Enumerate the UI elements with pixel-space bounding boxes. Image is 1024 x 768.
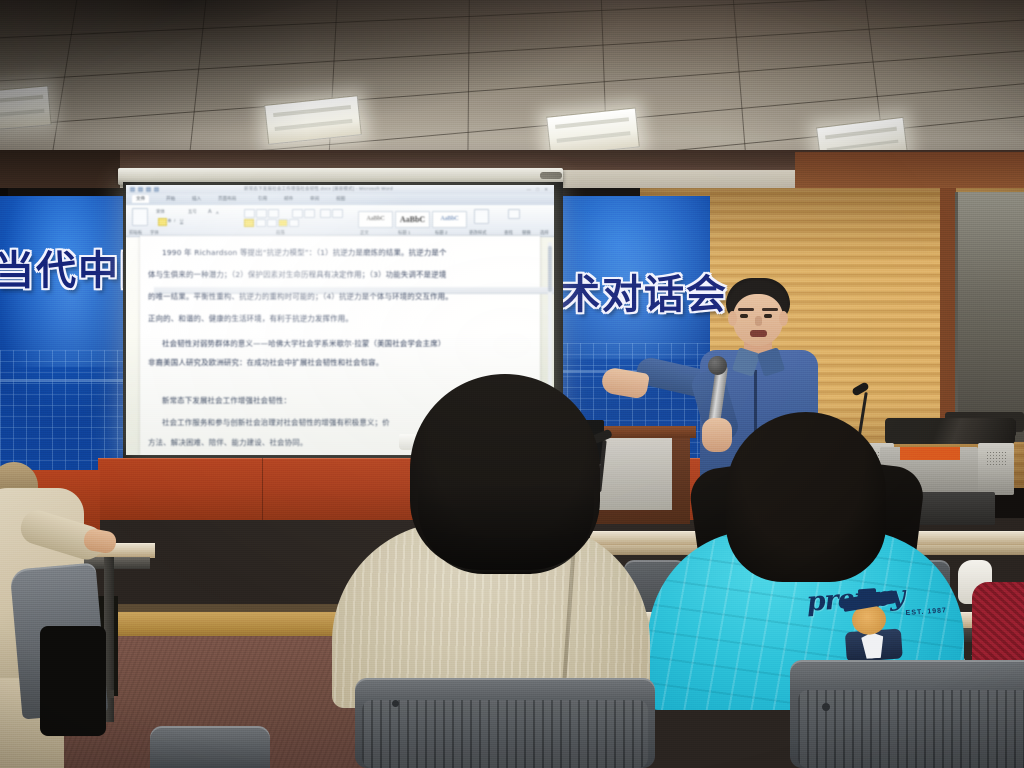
screen-pull-bracket <box>540 172 562 179</box>
shading-button[interactable] <box>244 219 254 227</box>
attendee-right: preppy EST. 1987 <box>648 412 968 702</box>
numbered-list-button[interactable] <box>256 209 267 218</box>
handheld-microphone-head <box>708 356 727 375</box>
show-marks-button[interactable] <box>332 209 343 218</box>
document-line: 体与生俱来的一种潜力；（2）保护因素对生命历程具有决定作用；（3）功能失调不是逆… <box>148 269 446 280</box>
ribbon[interactable]: 剪贴板 宋体 五号 A A B I U 字体 <box>126 205 554 237</box>
font-size-box[interactable]: 五号 <box>188 209 197 215</box>
window-controls[interactable]: — □ ✕ <box>527 187 551 193</box>
ceiling-light <box>264 95 362 145</box>
eyebrow-left <box>738 308 754 311</box>
speaker-mouth <box>750 330 767 337</box>
speaker-ear-left <box>728 311 737 326</box>
side-door <box>955 192 1024 442</box>
tab-mailings[interactable]: 邮件 <box>284 196 293 202</box>
eye-left <box>740 314 748 318</box>
attendee-center-hair-shadow <box>418 484 594 574</box>
increase-indent-button[interactable] <box>304 209 315 218</box>
tab-references[interactable]: 引用 <box>258 196 267 202</box>
window-title: 新常态下发展社会工作增强社会韧性.docx [兼容模式] - Microsoft… <box>244 186 393 192</box>
document-line: 正向的、和谐的、健康的生活环境，有利于抗逆力发挥作用。 <box>148 313 353 324</box>
style-normal[interactable]: AaBbC <box>358 211 393 228</box>
quick-access-toolbar[interactable]: 新常态下发展社会工作增强社会韧性.docx [兼容模式] - Microsoft… <box>126 185 554 194</box>
italic-button[interactable]: I <box>174 218 175 223</box>
select-label: 选择 <box>540 230 549 236</box>
sort-button[interactable] <box>320 209 331 218</box>
document-line: 非裔美国人研究及欧洲研究：在成功社会中扩展社会韧性和社会包容。 <box>148 357 383 368</box>
document-line: 方法、解决困难、陪伴、能力建设、社会协同。 <box>148 437 307 448</box>
tab-insert[interactable]: 插入 <box>192 196 201 202</box>
align-center-button[interactable] <box>267 219 277 227</box>
jacket-logo-subtext: EST. 1987 <box>905 607 947 617</box>
chair-backrest-ribs <box>798 690 1024 768</box>
document-line: 新常态下发展社会工作增强社会韧性： <box>162 395 291 406</box>
chair-fixing-screw <box>822 703 830 711</box>
chair-backrest[interactable] <box>150 726 270 768</box>
classroom-photograph: 当代中国哲 学术对话会 新常态下发展社会工作增强社会韧性.docx [兼容模式]… <box>0 0 1024 768</box>
wall-column <box>940 188 956 443</box>
tab-home[interactable]: 开始 <box>166 196 175 202</box>
chair-backrest-ribs <box>362 700 648 768</box>
speaker-nose <box>755 316 762 326</box>
align-right-button[interactable] <box>278 219 288 227</box>
underline-button[interactable]: U <box>180 218 183 223</box>
chair-seat[interactable] <box>40 626 106 736</box>
attendee-right-hair <box>726 412 886 582</box>
style-heading-2[interactable]: AaBbC <box>432 211 467 228</box>
soffit-left-shadow <box>0 150 120 190</box>
paste-button[interactable] <box>132 208 148 226</box>
justify-button[interactable] <box>289 219 299 227</box>
tab-review[interactable]: 审阅 <box>310 196 319 202</box>
tab-page-layout[interactable]: 页面布局 <box>218 196 236 202</box>
shrink-font-button[interactable]: A <box>216 210 219 215</box>
chair-fixing-screw <box>392 700 399 707</box>
jacket-logo: preppy EST. 1987 <box>806 577 951 661</box>
tab-file[interactable]: 文件 <box>132 195 149 203</box>
find-button[interactable] <box>508 209 520 219</box>
tab-view[interactable]: 视图 <box>336 196 345 202</box>
eyebrow-right <box>762 308 778 311</box>
ceiling-light <box>0 85 52 130</box>
bullet-list-button[interactable] <box>244 209 255 218</box>
document-line: 的唯一结果。平衡性重构、抗逆力的重构时可能的；（4）抗逆力是个体与环境的交互作用… <box>148 291 453 302</box>
style-heading-1[interactable]: AaBbC <box>395 211 430 228</box>
bear-graduation-cap-crown <box>858 588 877 599</box>
decrease-indent-button[interactable] <box>292 209 303 218</box>
document-line: 1990 年 Richardson 等提出“抗逆力模型”：（1）抗逆力是磨炼的结… <box>162 247 447 258</box>
text-highlight-button[interactable] <box>158 218 167 226</box>
eye-right <box>764 314 772 318</box>
grow-font-button[interactable]: A <box>208 209 212 215</box>
document-line: 社会韧性对弱势群体的意义——哈佛大学社会学系米歇尔·拉蒙（美国社会学会主席） <box>162 338 445 349</box>
speaker-ear-right <box>779 311 788 326</box>
soffit-right-trim <box>795 152 1024 192</box>
font-name-box[interactable]: 宋体 <box>156 209 165 215</box>
bold-button[interactable]: B <box>168 218 171 223</box>
align-left-button[interactable] <box>256 219 266 227</box>
right-loudspeaker <box>978 443 1014 495</box>
attendee-center <box>322 374 652 704</box>
change-styles-button[interactable] <box>474 209 489 224</box>
multilevel-list-button[interactable] <box>268 209 279 218</box>
